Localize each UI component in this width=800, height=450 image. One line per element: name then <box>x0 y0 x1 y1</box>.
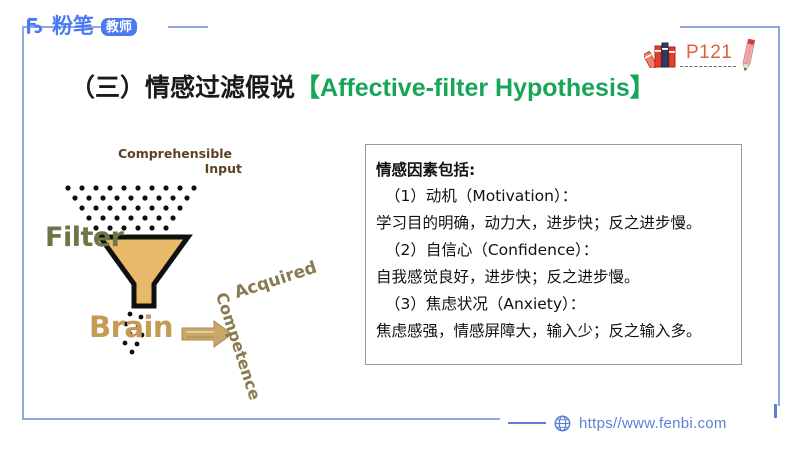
filter-label: Filter <box>45 222 124 253</box>
books-icon <box>644 38 684 68</box>
footer-tick <box>774 404 777 418</box>
page-title-zh: （三）情感过滤假说 <box>70 74 295 102</box>
factor-desc-1: 学习目的明确，动力大，进步快；反之进步慢。 <box>376 210 731 237</box>
funnel-graphic <box>42 138 342 378</box>
infobox-heading: 情感因素包括: <box>376 157 731 183</box>
slide-canvas: 粉笔 教师 （三）情感过滤假说【Affective-filter Hypothe… <box>0 0 800 450</box>
brain-label: Brain <box>89 310 173 344</box>
globe-icon <box>554 415 571 432</box>
pencil-icon <box>738 36 758 72</box>
brand-name: 粉笔 <box>52 15 94 39</box>
factor-label-3: （3）焦虑状况（Anxiety）： <box>376 291 731 318</box>
factor-desc-3: 焦虑感强，情感屏障大，输入少；反之输入多。 <box>376 318 731 345</box>
footer-url-text: https//www.fenbi.com <box>579 415 727 432</box>
fenbi-logo-icon <box>24 15 48 39</box>
logo-rule <box>168 26 208 28</box>
brand-badge: 教师 <box>101 18 137 36</box>
page-title-en: 【Affective-filter Hypothesis】 <box>295 74 655 102</box>
factor-desc-2: 自我感觉良好，进步快；反之进步慢。 <box>376 264 731 291</box>
factor-label-1: （1）动机（Motivation）： <box>376 183 731 210</box>
page-number-label: P121 <box>686 42 732 64</box>
page-number-underline <box>680 66 736 67</box>
page-reference-marker: P121 <box>644 36 754 72</box>
footer-rule <box>508 422 546 424</box>
page-title: （三）情感过滤假说【Affective-filter Hypothesis】 <box>70 68 690 104</box>
affective-filter-funnel-diagram: Comprehensible Input <box>42 138 342 378</box>
affective-factors-box: 情感因素包括: （1）动机（Motivation）： 学习目的明确，动力大，进步… <box>365 144 742 365</box>
footer-website: https//www.fenbi.com <box>508 411 727 435</box>
brand-logo: 粉笔 教师 <box>24 12 137 42</box>
factor-label-2: （2）自信心（Confidence）： <box>376 237 731 264</box>
